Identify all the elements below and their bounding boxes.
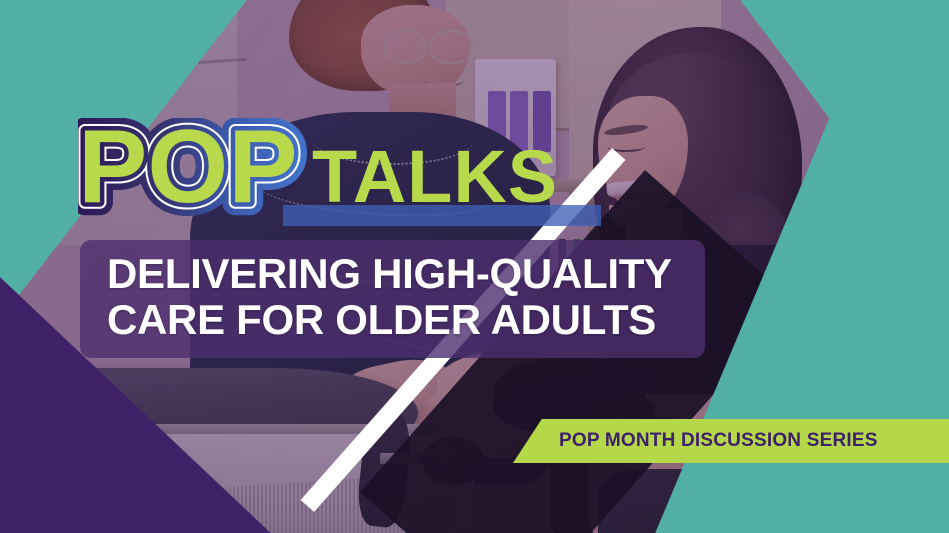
logo-pop-wordmark: POP POP POP POP [78,118,298,225]
pop-fill: POP [78,118,298,225]
title-panel: DELIVERING HIGH-QUALITY CARE FOR OLDER A… [80,240,705,358]
talks-wordmark: TALKS [312,135,558,218]
pop-talks-promo-graphic: POP POP POP POP TALKS DELIVERING HIGH-QU… [0,0,949,533]
series-banner-label: POP MONTH DISCUSSION SERIES [559,430,878,452]
page-title: DELIVERING HIGH-QUALITY CARE FOR OLDER A… [107,251,707,343]
series-banner: POP MONTH DISCUSSION SERIES [513,419,949,463]
pop-talks-logo: POP POP POP POP TALKS [78,118,618,228]
